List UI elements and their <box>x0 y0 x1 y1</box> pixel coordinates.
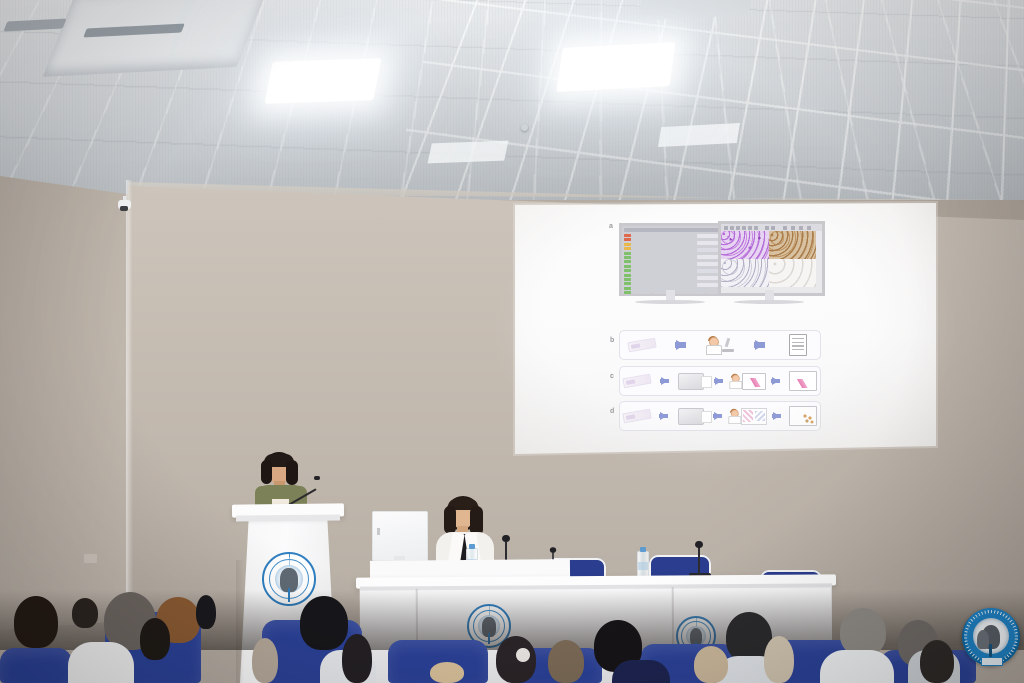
watermark-date-banner <box>981 657 1003 666</box>
sprinkler-head-icon <box>521 124 528 131</box>
watermark-asclepius-staff-icon <box>989 644 992 657</box>
audience-shoulders-11 <box>612 660 670 683</box>
audience-head-13 <box>694 646 728 683</box>
screen-vignette <box>515 203 936 454</box>
table-microphone-2[interactable] <box>689 536 711 578</box>
audience-head-9 <box>496 636 536 683</box>
institution-watermark-seal <box>962 608 1020 674</box>
audience-hair-tie <box>516 648 530 662</box>
monitor-logo <box>377 528 380 535</box>
audience-head-8 <box>342 634 372 683</box>
mic-capsule <box>314 476 320 480</box>
presenter-hair-left <box>261 460 272 484</box>
ceiling-led-panel-1 <box>264 58 381 104</box>
wall-corner-edge <box>126 180 133 650</box>
ceiling-ac-cassette-icon <box>43 0 268 77</box>
panel-monitor <box>372 511 428 561</box>
audience-shoulders-15 <box>820 650 894 683</box>
audience-shoulders-2 <box>68 642 134 683</box>
conference-hall-photo: a <box>0 0 1024 683</box>
audience-chair-8[interactable] <box>0 648 72 683</box>
audience-head-14 <box>764 636 794 683</box>
watermark-portrait-figure-second <box>977 630 989 649</box>
audience-head-6 <box>140 618 170 660</box>
left-wall <box>0 150 140 630</box>
ceiling-led-panel-2 <box>556 42 675 92</box>
audience-head-7 <box>300 596 348 650</box>
audience-head-5 <box>196 595 216 629</box>
audience-head-10 <box>548 640 584 683</box>
podium-top-edge <box>236 514 340 521</box>
audience-head-15 <box>840 608 886 656</box>
audience-head-1 <box>14 596 58 648</box>
panelist-hair-left <box>444 506 456 534</box>
cctv-lens <box>120 206 128 211</box>
cctv-camera-icon <box>118 196 131 212</box>
audience-head-18 <box>430 662 464 683</box>
ceiling-vent-tile <box>428 141 509 164</box>
audience-head-19 <box>252 638 278 683</box>
ceiling-vent-tile-right <box>658 123 740 147</box>
audience-head-3 <box>72 598 98 628</box>
audience-head-17 <box>920 640 954 683</box>
wall-socket-icon <box>84 554 97 563</box>
